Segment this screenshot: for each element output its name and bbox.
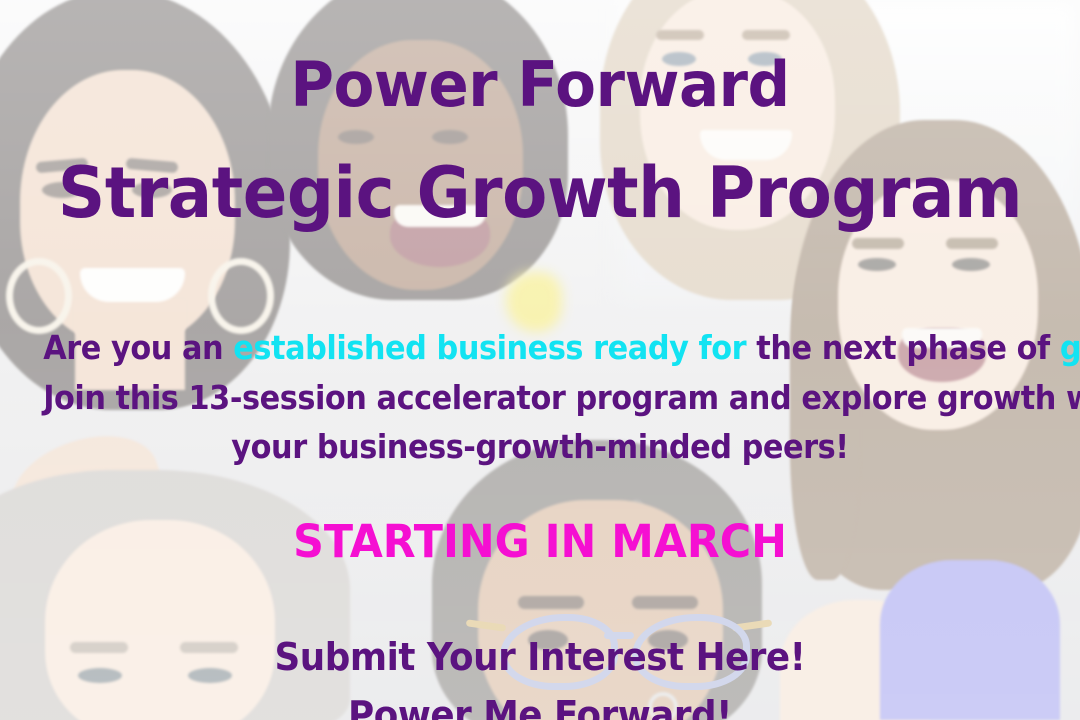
starting-banner: STARTING IN MARCH: [27, 515, 1053, 568]
text-layer: Power Forward Strategic Growth Program A…: [0, 0, 1080, 720]
cta-power-me-forward[interactable]: Power Me Forward!: [32, 693, 1047, 720]
cta-submit-interest[interactable]: Submit Your Interest Here!: [32, 635, 1047, 679]
body-highlight-established-business: established business ready for: [233, 328, 746, 367]
headline-primary: Power Forward: [22, 48, 1059, 121]
headline-secondary: Strategic Growth Program: [32, 152, 1047, 234]
body-line-3: your business-growth-minded peers!: [43, 427, 1037, 466]
body-text-segment: the next phase of: [746, 328, 1060, 367]
promotional-poster: Power Forward Strategic Growth Program A…: [0, 0, 1080, 720]
body-text-segment: Are you an: [43, 328, 233, 367]
body-line-2: Join this 13-session accelerator program…: [43, 378, 1037, 417]
body-line-1: Are you an established business ready fo…: [43, 328, 1037, 367]
body-highlight-growth: growth: [1060, 328, 1080, 367]
